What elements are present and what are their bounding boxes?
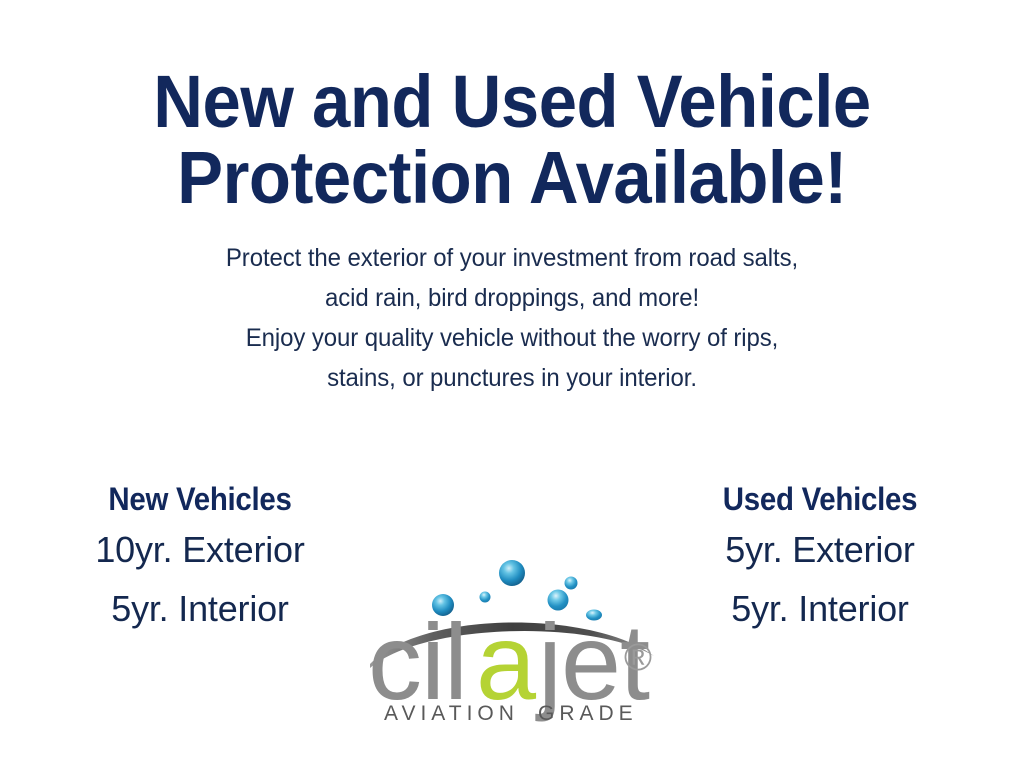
used-vehicles-heading: Used Vehicles bbox=[668, 478, 972, 520]
subtitle-line-4: stains, or punctures in your interior. bbox=[20, 358, 1003, 398]
subtitle-line-2: acid rain, bird droppings, and more! bbox=[20, 278, 1003, 318]
cilajet-logo: cil a jet ® AVIATION GRADE bbox=[362, 552, 662, 730]
logo-tagline: AVIATION GRADE bbox=[384, 702, 638, 725]
new-vehicles-item-interior: 5yr. Interior bbox=[35, 579, 365, 638]
title-line-2: Protection Available! bbox=[36, 140, 988, 216]
registered-trademark-icon: ® bbox=[624, 637, 652, 679]
subtitle-line-1: Protect the exterior of your investment … bbox=[20, 238, 1003, 278]
tagline-aviation: AVIATION bbox=[384, 702, 519, 725]
droplet-small-right bbox=[565, 577, 578, 590]
subtitle-line-3: Enjoy your quality vehicle without the w… bbox=[20, 318, 1003, 358]
new-vehicles-column: New Vehicles 10yr. Exterior 5yr. Interio… bbox=[35, 478, 365, 638]
title-line-1: New and Used Vehicle bbox=[36, 64, 988, 140]
page-title: New and Used Vehicle Protection Availabl… bbox=[0, 64, 1024, 216]
new-vehicles-item-exterior: 10yr. Exterior bbox=[35, 520, 365, 579]
tagline-grade: GRADE bbox=[538, 702, 638, 725]
used-vehicles-item-exterior: 5yr. Exterior bbox=[655, 520, 985, 579]
used-vehicles-item-interior: 5yr. Interior bbox=[655, 579, 985, 638]
used-vehicles-column: Used Vehicles 5yr. Exterior 5yr. Interio… bbox=[655, 478, 985, 638]
subtitle-block: Protect the exterior of your investment … bbox=[0, 238, 1024, 398]
slide-canvas: New and Used Vehicle Protection Availabl… bbox=[0, 0, 1024, 768]
new-vehicles-heading: New Vehicles bbox=[48, 478, 352, 520]
droplet-large-top bbox=[499, 560, 525, 586]
